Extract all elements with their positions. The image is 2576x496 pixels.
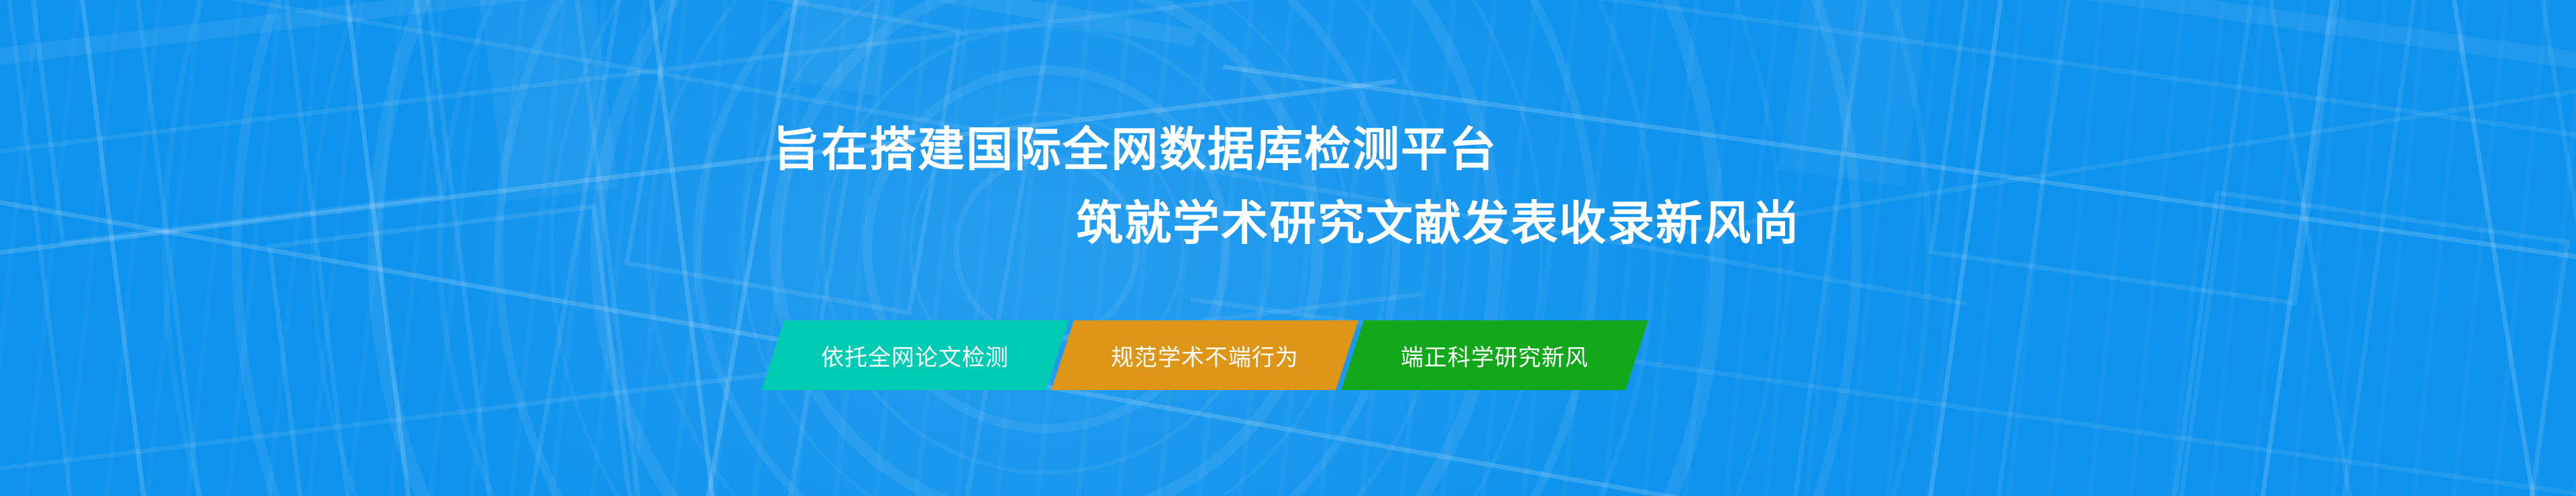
feature-badge-1[interactable]: 依托全网论文检测	[761, 320, 1069, 390]
feature-badge-3-label: 端正科学研究新风	[1401, 339, 1589, 372]
feature-badge-strip: 依托全网论文检测 规范学术不端行为 端正科学研究新风	[773, 320, 1637, 390]
headline-line-2: 筑就学术研究文献发表收录新风尚	[0, 186, 2576, 260]
promo-banner: 旨在搭建国际全网数据库检测平台 筑就学术研究文献发表收录新风尚 依托全网论文检测…	[0, 0, 2576, 496]
headline-block: 旨在搭建国际全网数据库检测平台 筑就学术研究文献发表收录新风尚	[0, 113, 2576, 260]
headline-line-1: 旨在搭建国际全网数据库检测平台	[0, 113, 2576, 186]
feature-badge-1-label: 依托全网论文检测	[821, 339, 1009, 372]
feature-badge-2[interactable]: 规范学术不端行为	[1051, 320, 1358, 390]
feature-badge-2-label: 规范学术不端行为	[1111, 339, 1299, 372]
feature-badge-3[interactable]: 端正科学研究新风	[1341, 320, 1648, 390]
